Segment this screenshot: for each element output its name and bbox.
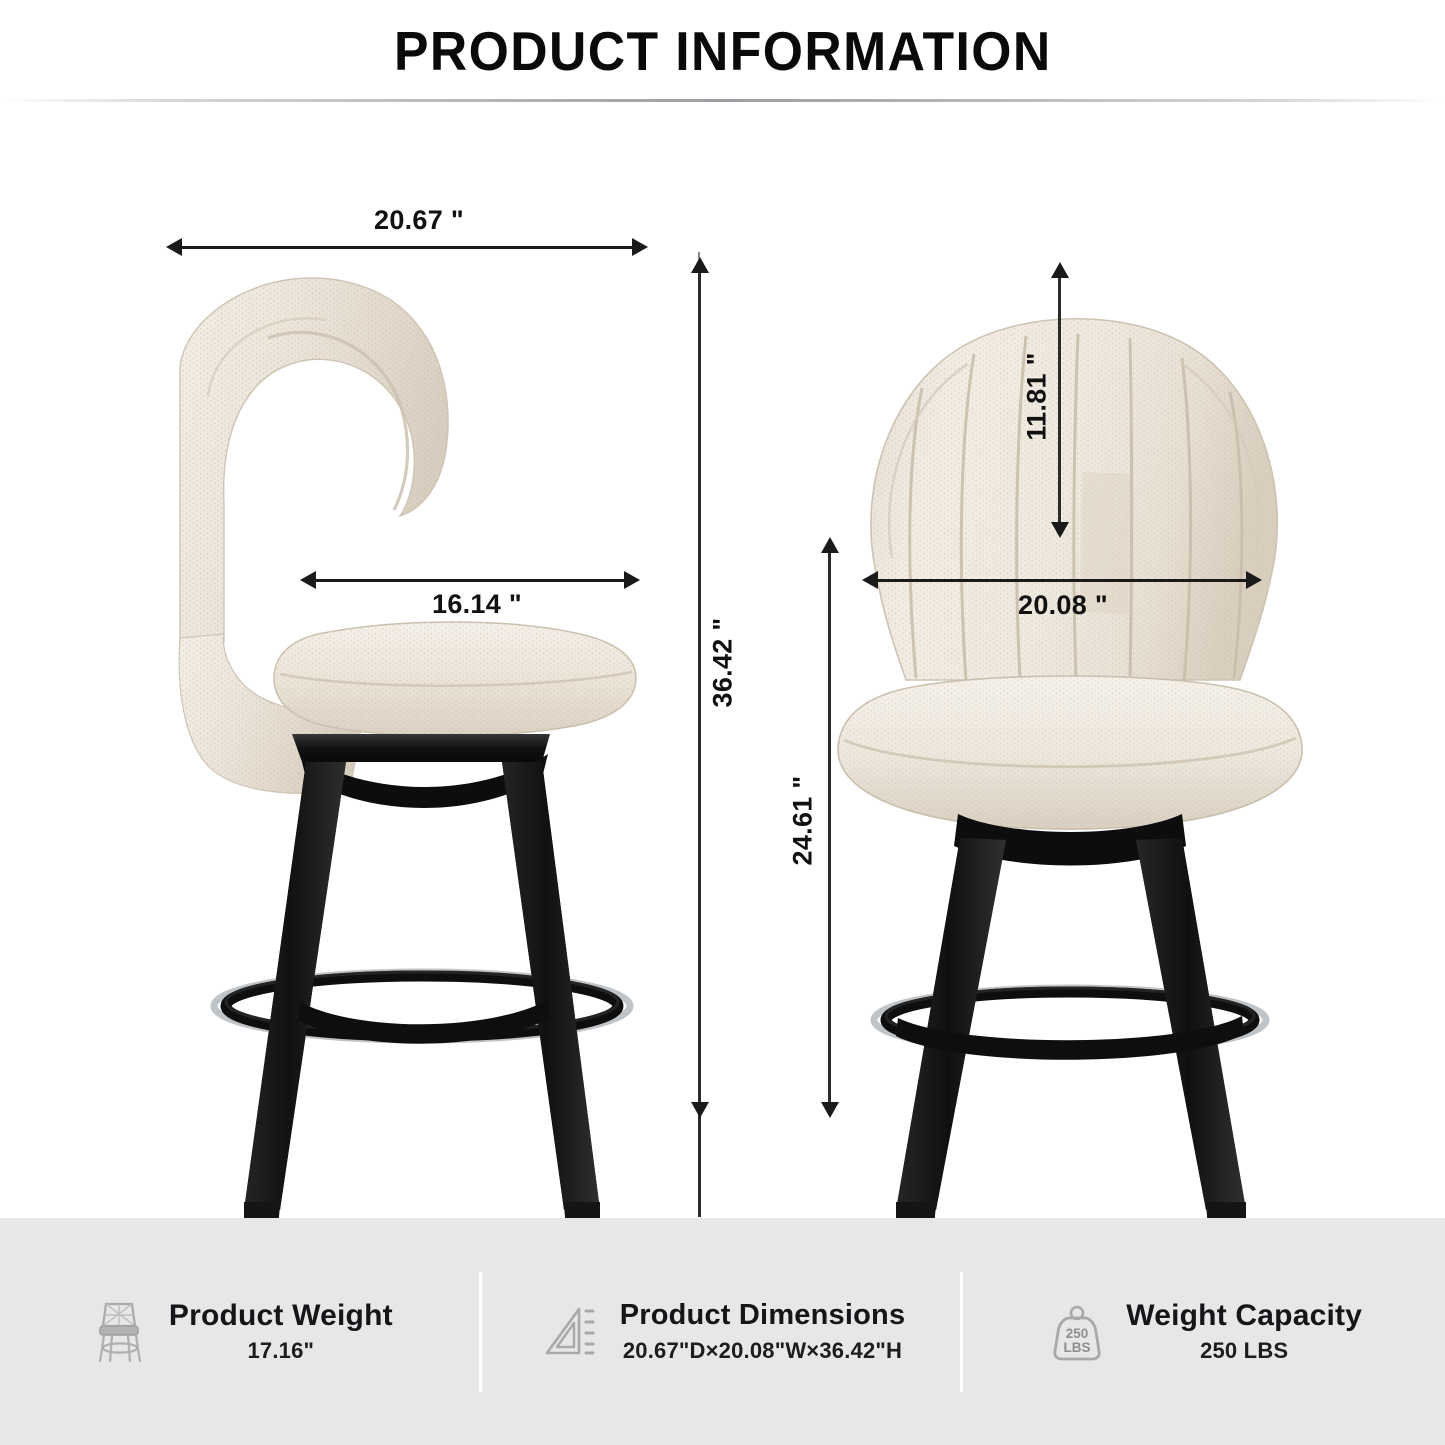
arrowhead-right-icon <box>632 238 648 256</box>
arrowhead-down-icon <box>1051 522 1069 538</box>
spec-product-dimensions-title: Product Dimensions <box>620 1299 906 1332</box>
dimension-seat-height-line <box>828 547 831 1115</box>
dimension-seat-height-label: 24.61 " <box>788 766 819 876</box>
arrowhead-left-icon <box>862 571 878 589</box>
arrowhead-down-icon <box>821 1102 839 1118</box>
spec-product-dimensions-text: Product Dimensions 20.67"D×20.08"W×36.42… <box>620 1299 906 1363</box>
arrowhead-up-icon <box>1051 262 1069 278</box>
arrowhead-right-icon <box>1246 571 1262 589</box>
arrowhead-down-icon <box>691 1102 709 1118</box>
set-square-ruler-icon <box>540 1299 602 1365</box>
swivel-plate-side <box>292 734 550 762</box>
product-illustration-stage: 20.67 " 16.14 " 36.42 " 11.81 " 20.08 " <box>0 102 1445 1218</box>
dimension-seat-width-line <box>874 579 1254 582</box>
arrowhead-left-icon <box>166 238 182 256</box>
spec-weight-capacity-text: Weight Capacity 250 LBS <box>1126 1299 1362 1365</box>
dimension-seat-depth-label: 16.14 " <box>432 589 522 620</box>
dimension-overall-height-line <box>698 267 701 1217</box>
spec-product-weight: Product Weight 17.16" <box>0 1218 482 1445</box>
bar-stool-icon <box>89 1299 151 1365</box>
page-header: PRODUCT INFORMATION <box>0 0 1445 102</box>
chair-side-view <box>150 242 670 1252</box>
product-spec-bar: Product Weight 17.16" Product Dimensions… <box>0 1218 1445 1445</box>
arrowhead-left-icon <box>300 571 316 589</box>
dimension-seat-width-label: 20.08 " <box>1018 590 1108 621</box>
weight-plate-icon-bottom-text: LBS <box>1064 1340 1091 1355</box>
chair-front-view-svg <box>810 242 1330 1252</box>
dimension-overall-height-label: 36.42 " <box>708 608 739 718</box>
weight-plate-icon-top-text: 250 <box>1066 1326 1089 1341</box>
spec-product-weight-value: 17.16" <box>247 1338 314 1364</box>
arrowhead-up-icon <box>691 257 709 273</box>
spec-product-dimensions-value: 20.67"D×20.08"W×36.42"H <box>623 1338 902 1364</box>
spec-weight-capacity-title: Weight Capacity <box>1126 1299 1362 1334</box>
arrowhead-right-icon <box>624 571 640 589</box>
spec-weight-capacity-value: 250 LBS <box>1200 1338 1288 1364</box>
spec-weight-capacity: 250 LBS Weight Capacity 250 LBS <box>963 1218 1445 1445</box>
dimension-seat-depth-line <box>312 579 632 582</box>
arrowhead-up-icon <box>821 537 839 553</box>
weight-plate-icon: 250 LBS <box>1046 1299 1108 1365</box>
chair-front-view <box>810 242 1330 1252</box>
dimension-backrest-height-line <box>1058 272 1061 530</box>
spec-product-weight-text: Product Weight 17.16" <box>169 1299 393 1365</box>
dimension-overall-depth-line <box>178 246 640 249</box>
spec-product-dimensions: Product Dimensions 20.67"D×20.08"W×36.42… <box>482 1218 964 1445</box>
spec-product-weight-title: Product Weight <box>169 1299 393 1334</box>
dimension-overall-depth-label: 20.67 " <box>374 205 464 236</box>
dimension-backrest-height-label: 11.81 " <box>1022 342 1053 452</box>
chair-side-view-svg <box>150 242 670 1252</box>
page-title: PRODUCT INFORMATION <box>394 19 1052 83</box>
